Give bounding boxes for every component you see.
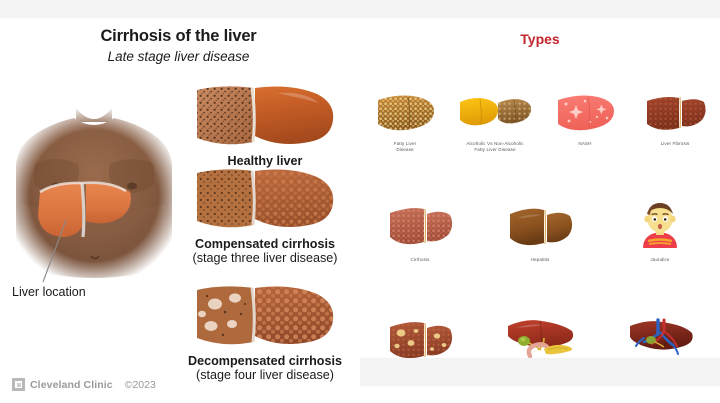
- types-row-1: Fatty Liver Disease: [360, 80, 720, 153]
- type-label: Jaundice: [650, 257, 669, 263]
- type-label: Alcoholic Vs Non-Alcoholic Fatty Liver D…: [466, 141, 523, 153]
- fatty-liver-icon: [374, 80, 436, 132]
- stage-decompensated-cirrhosis: Decompensated cirrhosis (stage four live…: [172, 280, 358, 383]
- liver-disease-types-panel: Types: [360, 18, 720, 386]
- types-heading: Types: [360, 31, 720, 47]
- top-gray-band: [0, 0, 720, 18]
- torso-liver-location-illustration: [8, 108, 180, 283]
- jaundice-person-icon: [637, 196, 683, 248]
- wilson-disease-icon: [624, 310, 696, 362]
- cirrhosis-liver-icon: [387, 196, 453, 248]
- type-card-fatty-liver-disease[interactable]: Fatty Liver Disease: [360, 80, 450, 153]
- type-card-alcoholic-vs-nonalcoholic[interactable]: Alcoholic Vs Non-Alcoholic Fatty Liver D…: [450, 80, 540, 153]
- type-card-hepatitis[interactable]: Hepatitis: [480, 196, 600, 263]
- brand-name: Cleveland Clinic: [30, 379, 113, 391]
- footer-attribution: Cleveland Clinic ©2023: [12, 378, 156, 391]
- stage-caption-main: Decompensated cirrhosis: [188, 354, 342, 368]
- stage-caption-sub: (stage four liver disease): [172, 368, 358, 382]
- type-label: Cirrhosis: [410, 257, 429, 263]
- type-label: Liver Fibrosis: [661, 141, 690, 147]
- bile-duct-diseases-icon: [504, 310, 576, 362]
- page-title: Cirrhosis of the liver: [0, 27, 357, 46]
- type-card-nash[interactable]: NASH: [540, 80, 630, 153]
- page-subtitle: Late stage liver disease: [0, 49, 357, 64]
- types-bottom-gray-band: [360, 358, 720, 386]
- stage-decompensated-caption: Decompensated cirrhosis (stage four live…: [172, 354, 358, 383]
- type-label: Fatty Liver Disease: [394, 141, 417, 153]
- stage-compensated-cirrhosis: Compensated cirrhosis (stage three liver…: [172, 163, 358, 266]
- nash-liver-icon: [554, 80, 616, 132]
- types-row-2: Cirrhosis: [360, 196, 720, 263]
- liver-location-label: Liver location: [12, 285, 86, 299]
- fibrosis-liver-icon: [644, 80, 706, 132]
- type-label: NASH: [578, 141, 591, 147]
- stage-caption-main: Compensated cirrhosis: [195, 237, 335, 251]
- type-card-jaundice[interactable]: Jaundice: [600, 196, 720, 263]
- stage-compensated-caption: Compensated cirrhosis (stage three liver…: [172, 237, 358, 266]
- type-label: Hepatitis: [531, 257, 550, 263]
- stage-caption-sub: (stage three liver disease): [172, 251, 358, 265]
- type-card-cirrhosis[interactable]: Cirrhosis: [360, 196, 480, 263]
- alcoholic-vs-nonalcoholic-icon: [458, 80, 532, 132]
- stage-healthy-liver: Healthy liver: [180, 80, 350, 168]
- type-card-liver-fibrosis[interactable]: Liver Fibrosis: [630, 80, 720, 153]
- copyright-text: ©2023: [125, 379, 156, 391]
- liver-cancer-icon: [387, 310, 453, 362]
- cleveland-clinic-square-icon: [12, 378, 25, 391]
- hepatitis-liver-icon: [507, 196, 573, 248]
- cirrhosis-overview-panel: Cirrhosis of the liver Late stage liver …: [0, 18, 357, 403]
